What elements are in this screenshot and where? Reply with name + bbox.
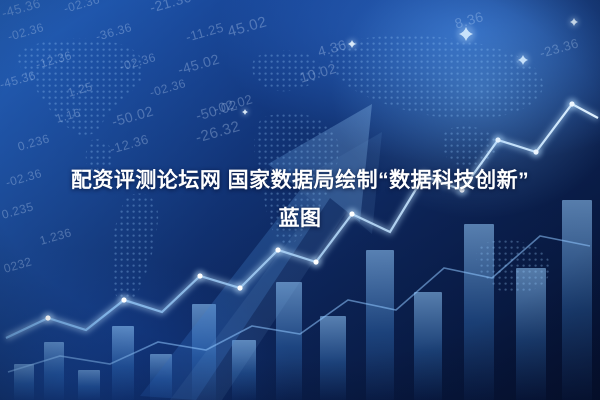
headline-line-1: 配资评测论坛网 国家数据局绘制“数据科技创新” xyxy=(71,169,529,192)
news-banner-image: -45.36-02.36-21.3645.024.368.36-23.36-02… xyxy=(0,0,600,400)
headline-line-2: 蓝图 xyxy=(0,200,600,238)
headline: 配资评测论坛网 国家数据局绘制“数据科技创新” 蓝图 xyxy=(0,162,600,238)
